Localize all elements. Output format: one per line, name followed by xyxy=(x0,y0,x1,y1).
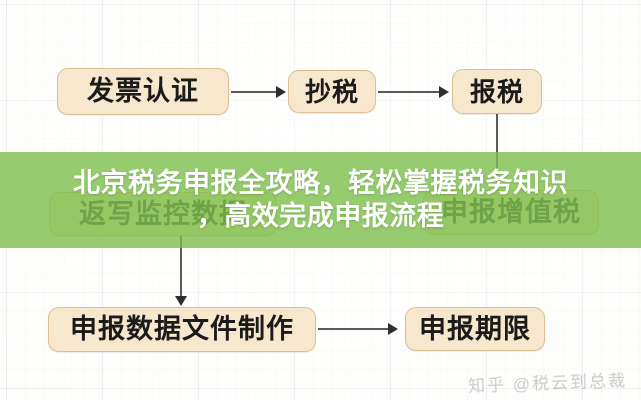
flow-node-label: 申报数据文件制作 xyxy=(70,316,294,343)
flow-node-declaration-data-file: 申报数据文件制作 xyxy=(48,307,316,352)
flow-node-label: 申报期限 xyxy=(419,316,531,343)
headline-banner: 北京税务申报全攻略，轻松掌握税务知识 ，高效完成申报流程 xyxy=(0,152,641,248)
flow-node-declaration-deadline: 申报期限 xyxy=(405,307,545,351)
connector-wenjian-to-qixian xyxy=(318,328,390,330)
flow-node-tax-copy: 抄税 xyxy=(288,70,376,113)
connector-chaoshui-to-baoshui xyxy=(378,91,440,93)
arrowhead-right-icon xyxy=(439,86,449,98)
arrowhead-right-icon xyxy=(276,86,286,98)
flow-node-label: 发票认证 xyxy=(87,78,199,105)
flow-node-tax-report: 报税 xyxy=(452,69,542,114)
flow-node-invoice-certification: 发票认证 xyxy=(57,68,229,115)
arrowhead-down-icon xyxy=(175,296,187,306)
headline-line-2: ，高效完成申报流程 xyxy=(197,200,445,233)
arrowhead-right-icon xyxy=(388,323,398,335)
flow-node-label: 抄税 xyxy=(305,79,359,105)
connector-fapiao-to-chaoshui xyxy=(231,91,279,93)
flow-node-label: 报税 xyxy=(470,79,524,105)
headline-line-1: 北京税务申报全攻略，轻松掌握税务知识 xyxy=(73,167,568,200)
screenshot-canvas: 发票认证 抄税 报税 返写监控数据 申报增值税 申报数据文件制作 申报期限 北京… xyxy=(0,0,641,400)
